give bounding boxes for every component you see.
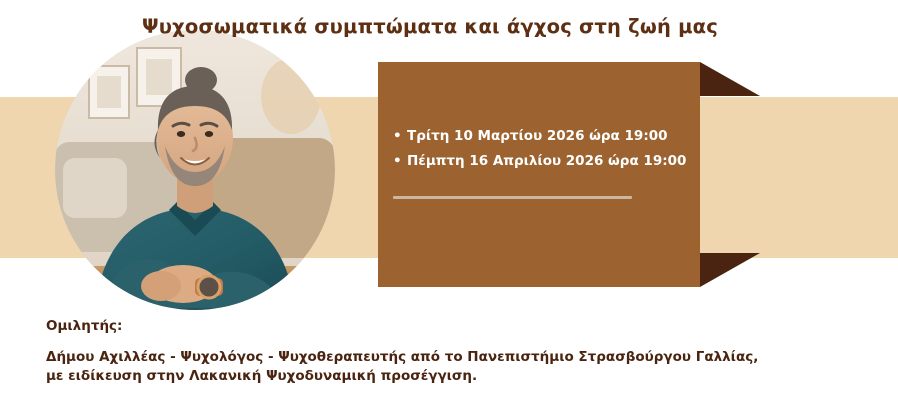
page-title: Ψυχοσωματικά συμπτώματα και άγχος στη ζω… [0, 15, 898, 38]
speaker-label: Ομιλητής: [46, 318, 758, 334]
bullet-icon: • [393, 149, 402, 174]
speaker-bio-line-1: Δήμου Αχιλλέας - Ψυχολόγος - Ψυχοθεραπευ… [46, 348, 758, 367]
list-item: • Τρίτη 10 Μαρτίου 2026 ώρα 19:00 [393, 124, 683, 149]
poster-canvas: Ψυχοσωματικά συμπτώματα και άγχος στη ζω… [0, 0, 898, 410]
ribbon-fold-top [700, 62, 760, 96]
event-date-list: • Τρίτη 10 Μαρτίου 2026 ώρα 19:00 • Πέμπ… [393, 124, 683, 174]
speaker-bio-line-2: με ειδίκευση στην Λακανική Ψυχοδυναμική … [46, 367, 758, 386]
ribbon-content: • Τρίτη 10 Μαρτίου 2026 ώρα 19:00 • Πέμπ… [393, 124, 683, 199]
ribbon-fold-bottom [700, 253, 760, 287]
footer-section: Ομιλητής: Δήμου Αχιλλέας - Ψυχολόγος - Ψ… [46, 318, 758, 386]
list-item: • Πέμπτη 16 Απριλίου 2026 ώρα 19:00 [393, 149, 683, 174]
event-date-text: Πέμπτη 16 Απριλίου 2026 ώρα 19:00 [407, 153, 686, 169]
speaker-bio: Δήμου Αχιλλέας - Ψυχολόγος - Ψυχοθεραπευ… [46, 348, 758, 386]
event-date-text: Τρίτη 10 Μαρτίου 2026 ώρα 19:00 [407, 128, 668, 144]
divider [393, 196, 632, 199]
speaker-photo [55, 30, 335, 310]
speaker-portrait-illustration [55, 30, 335, 310]
bullet-icon: • [393, 124, 402, 149]
